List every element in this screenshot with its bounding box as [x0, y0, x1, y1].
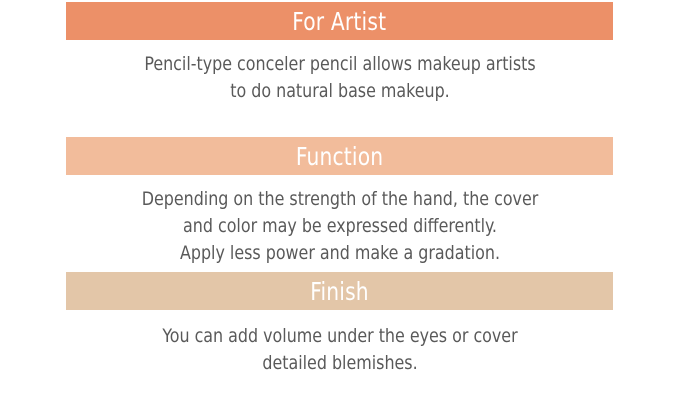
section-body-finish: You can add volume under the eyes or cov… [40, 310, 640, 377]
body-line: detailed blemishes. [61, 350, 619, 377]
body-line: Apply less power and make a gradation. [61, 240, 619, 267]
body-line: Pencil-type conceler pencil allows makeu… [61, 51, 619, 78]
section-body-for-artist: Pencil-type conceler pencil allows makeu… [40, 40, 640, 105]
section-heading-label-finish: Finish [310, 279, 369, 304]
section-finish: Finish You can add volume under the eyes… [0, 272, 679, 377]
product-info-panel: For Artist Pencil-type conceler pencil a… [0, 0, 679, 420]
section-heading-bar-finish: Finish [66, 272, 613, 310]
section-function: Function Depending on the strength of th… [0, 137, 679, 267]
section-heading-label-function: Function [296, 144, 383, 169]
body-line: Depending on the strength of the hand, t… [61, 186, 619, 213]
section-heading-bar-function: Function [66, 137, 613, 175]
body-line: and color may be expressed differently. [61, 213, 619, 240]
section-heading-label-for-artist: For Artist [293, 9, 387, 34]
body-line: You can add volume under the eyes or cov… [61, 323, 619, 350]
section-for-artist: For Artist Pencil-type conceler pencil a… [0, 2, 679, 105]
section-body-function: Depending on the strength of the hand, t… [40, 175, 640, 267]
section-heading-bar-for-artist: For Artist [66, 2, 613, 40]
body-line: to do natural base makeup. [61, 78, 619, 105]
